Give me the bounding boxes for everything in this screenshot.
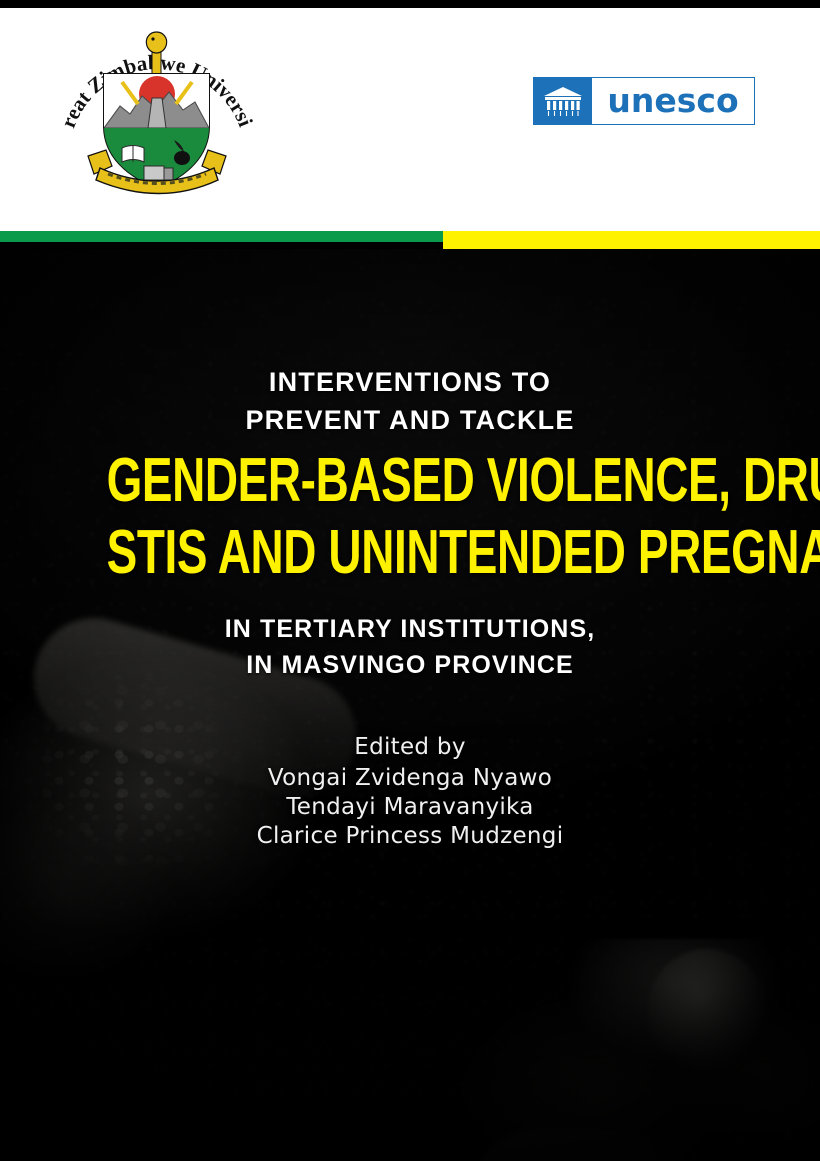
cover-artwork: INTERVENTIONS TO PREVENT AND TACKLE GEND… xyxy=(0,249,820,1161)
book-cover: Great Zimbabwe University xyxy=(0,0,820,1161)
cover-header: Great Zimbabwe University xyxy=(0,8,820,231)
editor-name: Clarice Princess Mudzengi xyxy=(0,822,820,851)
editor-name: Tendayi Maravanyika xyxy=(0,793,820,822)
band-segment-yellow xyxy=(443,231,820,249)
great-zimbabwe-university-crest-icon: Great Zimbabwe University xyxy=(52,16,262,206)
editors-block: Edited by Vongai Zvidenga Nyawo Tendayi … xyxy=(0,733,820,851)
photo-person-head xyxy=(648,949,766,1071)
unesco-temple-icon xyxy=(534,78,592,124)
headline-line-1: GENDER-BASED VIOLENCE, DRUG ABUSE, xyxy=(107,445,714,517)
editor-name: Vongai Zvidenga Nyawo xyxy=(0,764,820,793)
unesco-wordmark: unesco xyxy=(592,78,754,124)
kicker-line-1: INTERVENTIONS TO xyxy=(269,367,551,397)
top-black-rule xyxy=(0,0,820,8)
headline-line-2: STIS AND UNINTENDED PREGNANCIES xyxy=(107,517,714,589)
title-kicker: INTERVENTIONS TO PREVENT AND TACKLE xyxy=(0,363,820,439)
subtitle-line-2: IN MASVINGO PROVINCE xyxy=(246,651,574,679)
subtitle-line-1: IN TERTIARY INSTITUTIONS, xyxy=(225,615,596,643)
kicker-line-2: PREVENT AND TACKLE xyxy=(245,405,574,435)
unesco-logo: unesco xyxy=(533,77,755,125)
photo-seated-person xyxy=(440,939,820,1161)
editors-heading: Edited by xyxy=(0,733,820,762)
title-headline: GENDER-BASED VIOLENCE, DRUG ABUSE, STIS … xyxy=(107,445,714,589)
brand-color-band xyxy=(0,231,820,249)
title-subtitle: IN TERTIARY INSTITUTIONS, IN MASVINGO PR… xyxy=(0,611,820,683)
band-segment-green xyxy=(0,231,443,242)
